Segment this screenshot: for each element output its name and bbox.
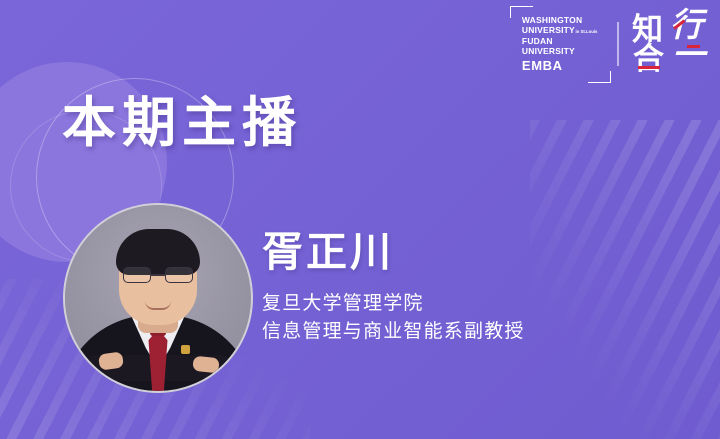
wustl-fudan-emba-logo: WASHINGTON UNIVERSITY in St.Louis FUDAN … bbox=[510, 6, 611, 83]
speaker-photo bbox=[65, 205, 251, 391]
logo-line-university: UNIVERSITY bbox=[522, 26, 575, 36]
glasses-lens-left bbox=[123, 267, 151, 283]
logo-superscript-in-st-louis: in St.Louis bbox=[575, 29, 597, 34]
logo-line-university-stl: UNIVERSITY in St.Louis bbox=[522, 26, 597, 36]
logo-line-emba: EMBA bbox=[522, 59, 597, 73]
logo-accent-stroke-2 bbox=[638, 66, 660, 69]
glasses-lens-right bbox=[165, 267, 193, 283]
logo-line-fudan: FUDAN bbox=[522, 37, 597, 47]
speaker-affiliation-line-2: 信息管理与商业智能系副教授 bbox=[262, 318, 592, 346]
speaker-name: 胥正川 bbox=[262, 228, 592, 276]
logo-line-university-2: UNIVERSITY bbox=[522, 47, 597, 57]
speaker-avatar bbox=[63, 203, 253, 393]
logo-lockup: WASHINGTON UNIVERSITY in St.Louis FUDAN … bbox=[510, 8, 706, 80]
logo-divider bbox=[617, 22, 619, 66]
logo-accent-stroke-3 bbox=[687, 45, 700, 48]
speaker-announcement-poster: WASHINGTON UNIVERSITY in St.Louis FUDAN … bbox=[0, 0, 720, 439]
portrait-hand-right bbox=[192, 356, 219, 374]
portrait-glasses-icon bbox=[123, 267, 193, 284]
speaker-info: 胥正川 复旦大学管理学院 信息管理与商业智能系副教授 bbox=[262, 228, 592, 346]
logo-line-washington: WASHINGTON bbox=[522, 16, 597, 26]
page-title: 本期主播 bbox=[62, 93, 302, 153]
portrait-lapel-pin bbox=[181, 345, 190, 354]
speaker-affiliation-line-1: 复旦大学管理学院 bbox=[262, 290, 592, 318]
zhixing-heyi-logo: 知 行 合 一 bbox=[632, 13, 706, 75]
glasses-bridge bbox=[151, 274, 165, 276]
